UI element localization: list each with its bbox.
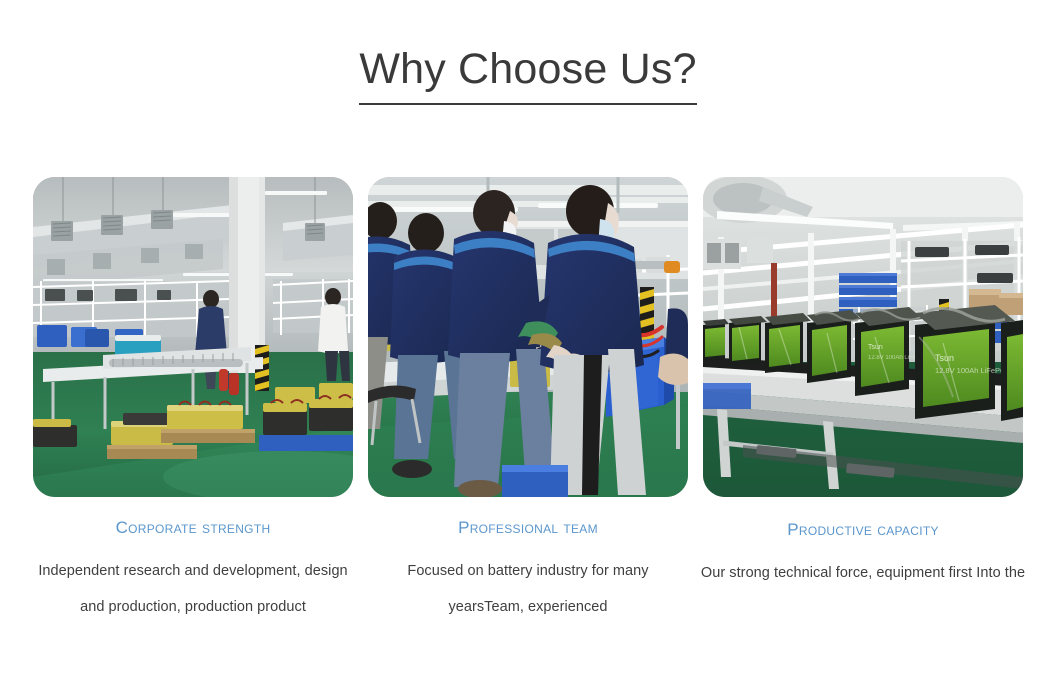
- card-body-text: Focused on battery industry for many yea…: [370, 539, 686, 625]
- card-heading: Corporate strength: [33, 497, 353, 539]
- assembly-team-photo: [368, 177, 688, 497]
- factory-floor-photo: [33, 177, 353, 497]
- feature-card: Professional team Focused on battery ind…: [368, 177, 688, 625]
- feature-card: Corporate strength Independent research …: [33, 177, 353, 625]
- page-title-wrap: Why Choose Us?: [0, 14, 1056, 134]
- svg-text:12.8V 100Ah LiFePO4: 12.8V 100Ah LiFePO4: [935, 366, 1010, 375]
- feature-card: Tsun 12.8V 100Ah LiFePO4 Tsun 12.8V 100A…: [703, 177, 1023, 625]
- svg-text:Tsun: Tsun: [935, 353, 954, 363]
- feature-card-row: Corporate strength Independent research …: [33, 177, 1023, 625]
- svg-text:Tsun: Tsun: [868, 344, 883, 351]
- card-heading: Productive capacity: [703, 497, 1023, 541]
- card-body-text: Our strong technical force, equipment fi…: [695, 541, 1031, 591]
- why-choose-us-section: Why Choose Us?: [0, 0, 1056, 676]
- card-heading: Professional team: [368, 497, 688, 539]
- page-title: Why Choose Us?: [359, 43, 696, 105]
- card-body-text: Independent research and development, de…: [28, 539, 358, 625]
- conveyor-battery-line-photo: Tsun 12.8V 100Ah LiFePO4 Tsun 12.8V 100A…: [703, 177, 1023, 497]
